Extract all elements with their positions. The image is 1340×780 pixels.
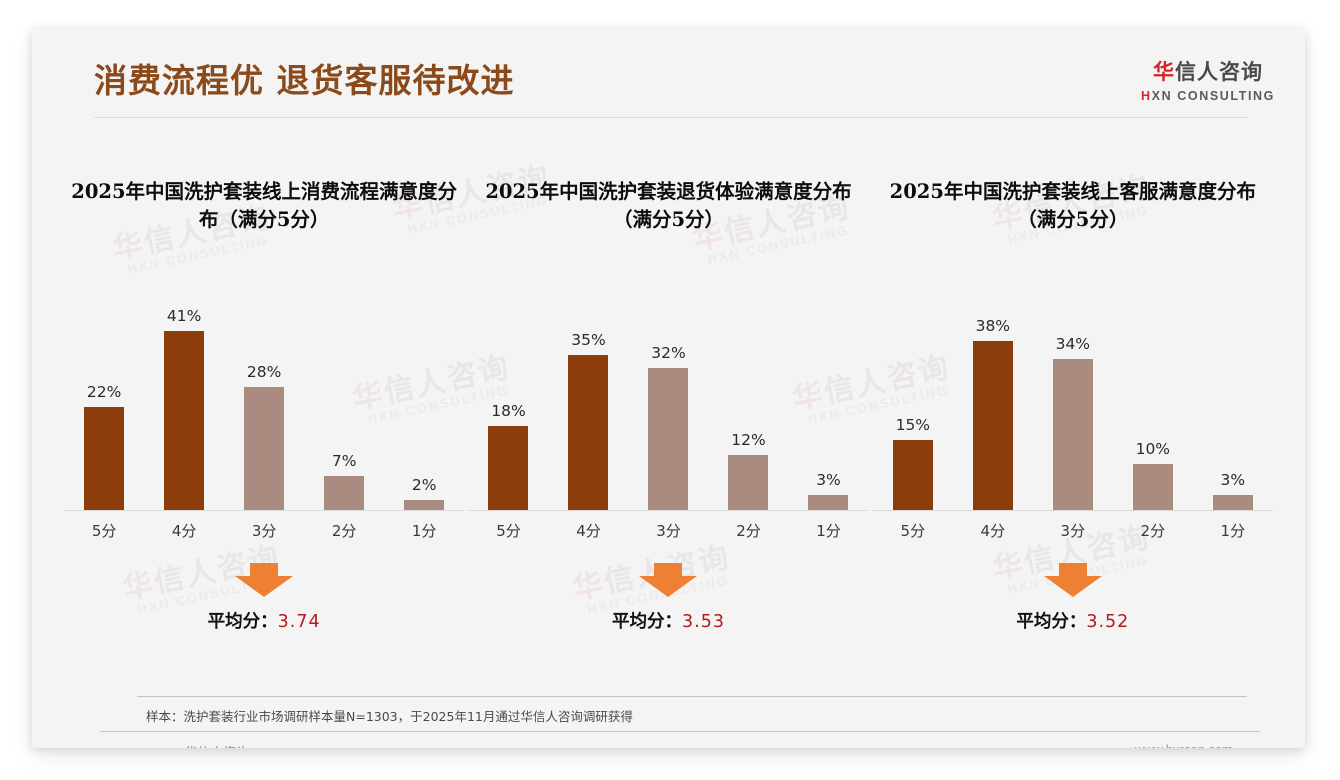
average-score-label: 平均分： [1016, 612, 1086, 632]
down-arrow-icon [639, 563, 697, 597]
bar[interactable] [164, 331, 204, 511]
bar-value-label: 41% [167, 307, 201, 325]
bar[interactable] [84, 407, 124, 511]
bar-group: 22% 41% 28% 7% 2% [64, 296, 464, 511]
average-score-label: 平均分： [612, 612, 682, 632]
category-label: 2分 [1113, 520, 1193, 541]
logo-cn-red: 华 [1153, 60, 1175, 84]
bar[interactable] [893, 440, 933, 511]
bar[interactable] [568, 355, 608, 511]
average-score-text: 平均分：3.53 [612, 608, 725, 633]
bar-slot: 12% [708, 296, 788, 511]
chart-title: 2025年中国洗护套装退货体验满意度分布（满分5分） [468, 178, 868, 235]
bar-value-label: 22% [87, 383, 121, 401]
average-annotation: 平均分：3.53 [468, 563, 868, 633]
down-arrow-icon [235, 563, 293, 597]
x-axis-line [468, 510, 868, 511]
charts-row: 2025年中国洗护套装线上消费流程满意度分布（满分5分） 22% 41% 28%… [62, 178, 1275, 678]
bar[interactable] [488, 426, 528, 511]
bar-chart-plot: 15% 38% 34% 10% 3% [873, 271, 1273, 511]
bar-slot: 34% [1033, 296, 1113, 511]
bar[interactable] [1053, 359, 1093, 511]
average-score-text: 平均分：3.52 [1016, 608, 1129, 633]
category-label: 1分 [384, 520, 464, 541]
footer-divider [100, 731, 1260, 732]
header-divider [94, 117, 1249, 118]
chart-title: 2025年中国洗护套装线上消费流程满意度分布（满分5分） [64, 178, 464, 235]
sample-footnote: 样本：洗护套装行业市场调研样本量N=1303，于2025年11月通过华信人咨询调… [146, 706, 633, 725]
bar-slot: 22% [64, 296, 144, 511]
category-label: 1分 [788, 520, 868, 541]
category-label: 3分 [1033, 520, 1113, 541]
bar[interactable] [244, 387, 284, 511]
bar-slot: 10% [1113, 296, 1193, 511]
chart-title: 2025年中国洗护套装线上客服满意度分布（满分5分） [873, 178, 1273, 235]
bar[interactable] [808, 495, 848, 511]
bar-value-label: 15% [896, 416, 930, 434]
category-label: 3分 [224, 520, 304, 541]
average-score-value: 3.52 [1086, 612, 1129, 632]
bar-value-label: 3% [1221, 471, 1246, 489]
bar-group: 15% 38% 34% 10% 3% [873, 296, 1273, 511]
category-labels: 5分 4分 3分 2分 1分 [64, 520, 464, 541]
logo-chinese: 华信人咨询 [1141, 56, 1275, 86]
bar-value-label: 3% [816, 471, 841, 489]
bar-slot: 32% [628, 296, 708, 511]
footnote-divider [137, 696, 1247, 697]
bar-value-label: 35% [571, 331, 605, 349]
bar-value-label: 7% [332, 452, 357, 470]
average-score-value: 3.53 [682, 612, 725, 632]
bar-slot: 35% [548, 296, 628, 511]
bar[interactable] [1133, 464, 1173, 511]
bar-value-label: 28% [247, 363, 281, 381]
bar-chart-plot: 18% 35% 32% 12% 3% [468, 271, 868, 511]
bar[interactable] [728, 455, 768, 511]
bar-slot: 15% [873, 296, 953, 511]
bar-slot: 28% [224, 296, 304, 511]
category-labels: 5分 4分 3分 2分 1分 [468, 520, 868, 541]
bar-slot: 18% [468, 296, 548, 511]
bar-value-label: 38% [976, 317, 1010, 335]
slide-canvas: 华信人咨询HXN CONSULTING 华信人咨询HXN CONSULTING … [32, 28, 1305, 748]
bar-value-label: 2% [412, 476, 437, 494]
bar[interactable] [973, 341, 1013, 511]
bar[interactable] [324, 476, 364, 511]
bar-chart-plot: 22% 41% 28% 7% 2% [64, 271, 464, 511]
company-logo: 华信人咨询 HXN CONSULTING [1141, 56, 1275, 103]
bar-slot: 3% [1193, 296, 1273, 511]
category-label: 1分 [1193, 520, 1273, 541]
x-axis-line [64, 510, 464, 511]
bar-value-label: 32% [651, 344, 685, 362]
category-label: 4分 [548, 520, 628, 541]
logo-en-rest: XN CONSULTING [1152, 89, 1275, 103]
chart-panel-return-experience: 2025年中国洗护套装退货体验满意度分布（满分5分） 18% 35% 32% 1… [466, 178, 870, 678]
average-annotation: 平均分：3.74 [64, 563, 464, 633]
chart-panel-consumption-process: 2025年中国洗护套装线上消费流程满意度分布（满分5分） 22% 41% 28%… [62, 178, 466, 678]
page-title: 消费流程优 退货客服待改进 [94, 54, 515, 102]
category-label: 5分 [64, 520, 144, 541]
bar-value-label: 12% [731, 431, 765, 449]
category-label: 5分 [873, 520, 953, 541]
bar[interactable] [648, 368, 688, 511]
logo-english: HXN CONSULTING [1141, 89, 1275, 103]
slide-header: 消费流程优 退货客服待改进 华信人咨询 HXN CONSULTING [32, 28, 1305, 118]
category-label: 2分 [708, 520, 788, 541]
category-label: 3分 [628, 520, 708, 541]
category-label: 4分 [953, 520, 1033, 541]
bar[interactable] [1213, 495, 1253, 511]
category-label: 5分 [468, 520, 548, 541]
footer-copyright: ©2026.1 HXR华信人咨询 [104, 742, 249, 748]
bar-group: 18% 35% 32% 12% 3% [468, 296, 868, 511]
bar-slot: 3% [788, 296, 868, 511]
bar-slot: 41% [144, 296, 224, 511]
bar-slot: 38% [953, 296, 1033, 511]
bar-value-label: 18% [491, 402, 525, 420]
bar-slot: 2% [384, 296, 464, 511]
category-label: 2分 [304, 520, 384, 541]
logo-en-red: H [1141, 89, 1152, 103]
logo-cn-rest: 信人咨询 [1175, 60, 1263, 84]
category-label: 4分 [144, 520, 224, 541]
down-arrow-icon [1044, 563, 1102, 597]
bar-value-label: 34% [1056, 335, 1090, 353]
bar-slot: 7% [304, 296, 384, 511]
average-score-value: 3.74 [278, 612, 321, 632]
x-axis-line [873, 510, 1273, 511]
footer-website[interactable]: www.hxrcon.com [1135, 742, 1233, 748]
bar-value-label: 10% [1136, 440, 1170, 458]
average-score-text: 平均分：3.74 [208, 608, 321, 633]
chart-panel-customer-service: 2025年中国洗护套装线上客服满意度分布（满分5分） 15% 38% 34% 1… [871, 178, 1275, 678]
average-annotation: 平均分：3.52 [873, 563, 1273, 633]
average-score-label: 平均分： [208, 612, 278, 632]
category-labels: 5分 4分 3分 2分 1分 [873, 520, 1273, 541]
